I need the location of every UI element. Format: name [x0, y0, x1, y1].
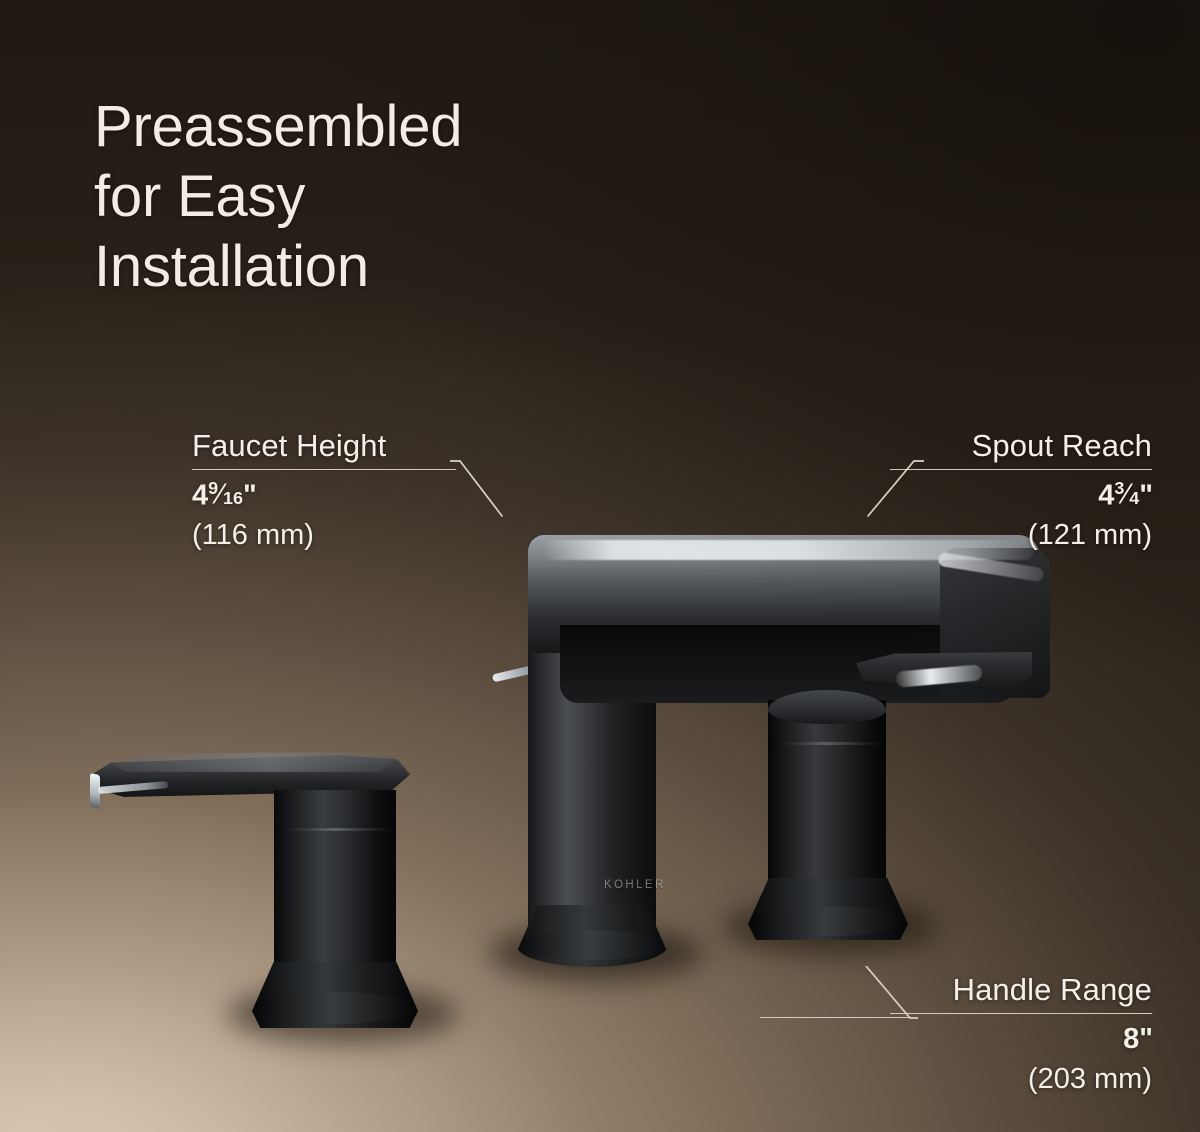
callout-value: 8" — [890, 1023, 1152, 1056]
value-unit: " — [1139, 1023, 1152, 1055]
callout-metric: (116 mm) — [192, 519, 456, 552]
headline-line-3: Installation — [94, 232, 654, 302]
value-whole: 4 — [192, 479, 208, 511]
callout-handle-range: Handle Range 8" (203 mm) — [890, 972, 1152, 1096]
headline-line-2: for Easy — [94, 162, 654, 232]
callout-metric: (121 mm) — [890, 519, 1152, 552]
callout-title: Spout Reach — [890, 428, 1152, 464]
kohler-wordmark: KOHLER — [604, 879, 678, 891]
left-handle-ring — [274, 828, 396, 831]
left-handle-base-rim — [256, 992, 414, 1024]
right-handle-ring — [768, 742, 886, 745]
right-handle-base-rim — [752, 906, 904, 936]
callout-title: Faucet Height — [192, 428, 456, 464]
value-fraction: 3⁄4 — [1114, 478, 1139, 511]
value-unit: " — [1139, 479, 1152, 511]
value-whole: 8 — [1123, 1023, 1139, 1055]
fraction-denominator: 16 — [223, 488, 243, 508]
callout-faucet-height: Faucet Height 49⁄16" (116 mm) — [192, 428, 456, 552]
fraction-denominator: 4 — [1129, 488, 1139, 508]
spout-base-rim — [520, 930, 664, 960]
headline-line-1: Preassembled — [94, 92, 654, 162]
value-unit: " — [243, 479, 256, 511]
fraction-numerator: 9 — [208, 478, 218, 498]
callout-rule — [890, 1013, 1152, 1014]
left-handle-cylinder — [274, 790, 396, 982]
callout-title: Handle Range — [890, 972, 1152, 1008]
headline: Preassembled for Easy Installation — [94, 92, 654, 303]
callout-rule — [890, 469, 1152, 470]
right-handle-cap — [768, 690, 886, 724]
left-handle-lever-top-highlight — [108, 752, 404, 772]
callout-value: 43⁄4" — [890, 479, 1152, 512]
fraction-numerator: 3 — [1114, 478, 1124, 498]
leader-line-faucet-height — [450, 458, 512, 522]
callout-spout-reach: Spout Reach 43⁄4" (121 mm) — [890, 428, 1152, 552]
right-handle-cylinder — [768, 700, 886, 896]
callout-rule — [192, 469, 456, 470]
handle-range-rule-extension — [760, 1017, 910, 1018]
product-hero-image: KOHLER Preassembled for Easy Installatio… — [0, 0, 1200, 1132]
callout-metric: (203 mm) — [890, 1063, 1152, 1096]
callout-value: 49⁄16" — [192, 479, 456, 512]
value-whole: 4 — [1098, 479, 1114, 511]
value-fraction: 9⁄16 — [208, 478, 243, 511]
